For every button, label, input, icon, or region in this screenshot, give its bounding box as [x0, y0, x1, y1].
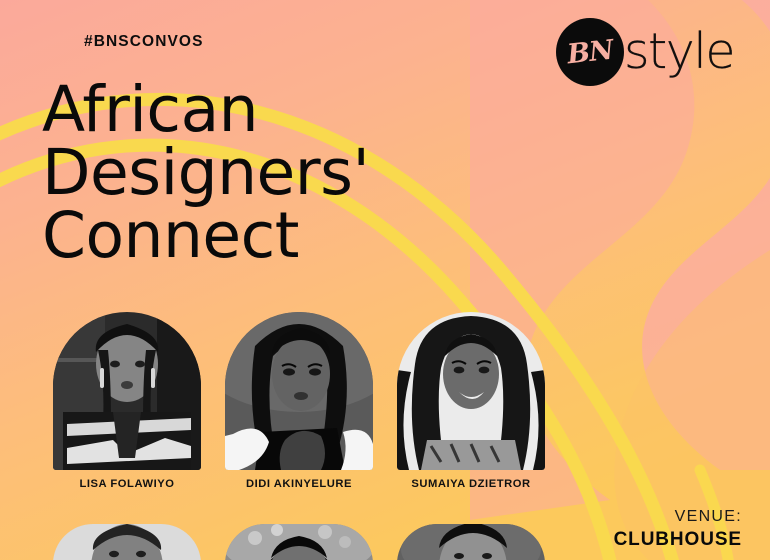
speaker-card: DIDI AKINYELURE	[225, 312, 373, 470]
speaker-card: SUMAIYA DZIETROR	[397, 312, 545, 470]
speaker-card	[225, 524, 373, 560]
speaker-portrait	[397, 312, 545, 470]
speaker-name: LISA FOLAWIYO	[53, 478, 201, 490]
speaker-card	[53, 524, 201, 560]
speaker-portrait	[397, 524, 545, 560]
venue-label: VENUE:	[614, 506, 742, 528]
speaker-portrait	[53, 524, 201, 560]
speaker-name: SUMAIYA DZIETROR	[397, 478, 545, 490]
logo-monogram: BN	[553, 15, 628, 90]
page-title: African Designers' Connect	[42, 78, 369, 267]
speaker-name: DIDI AKINYELURE	[225, 478, 373, 490]
speaker-portrait	[53, 312, 201, 470]
logo-wordmark: style	[624, 21, 734, 83]
speakers-row-primary: LISA FOLAWIYO	[0, 312, 770, 472]
hashtag: #BNSCONVOS	[84, 33, 204, 51]
speaker-portrait	[225, 524, 373, 560]
speaker-portrait	[225, 312, 373, 470]
venue-block: VENUE: CLUBHOUSE	[614, 506, 742, 552]
venue-value: CLUBHOUSE	[614, 528, 742, 552]
speaker-card: LISA FOLAWIYO	[53, 312, 201, 470]
promo-poster: BN style #BNSCONVOS African Designers' C…	[0, 0, 770, 560]
speaker-card	[397, 524, 545, 560]
brand-logo: BN style	[556, 14, 756, 92]
